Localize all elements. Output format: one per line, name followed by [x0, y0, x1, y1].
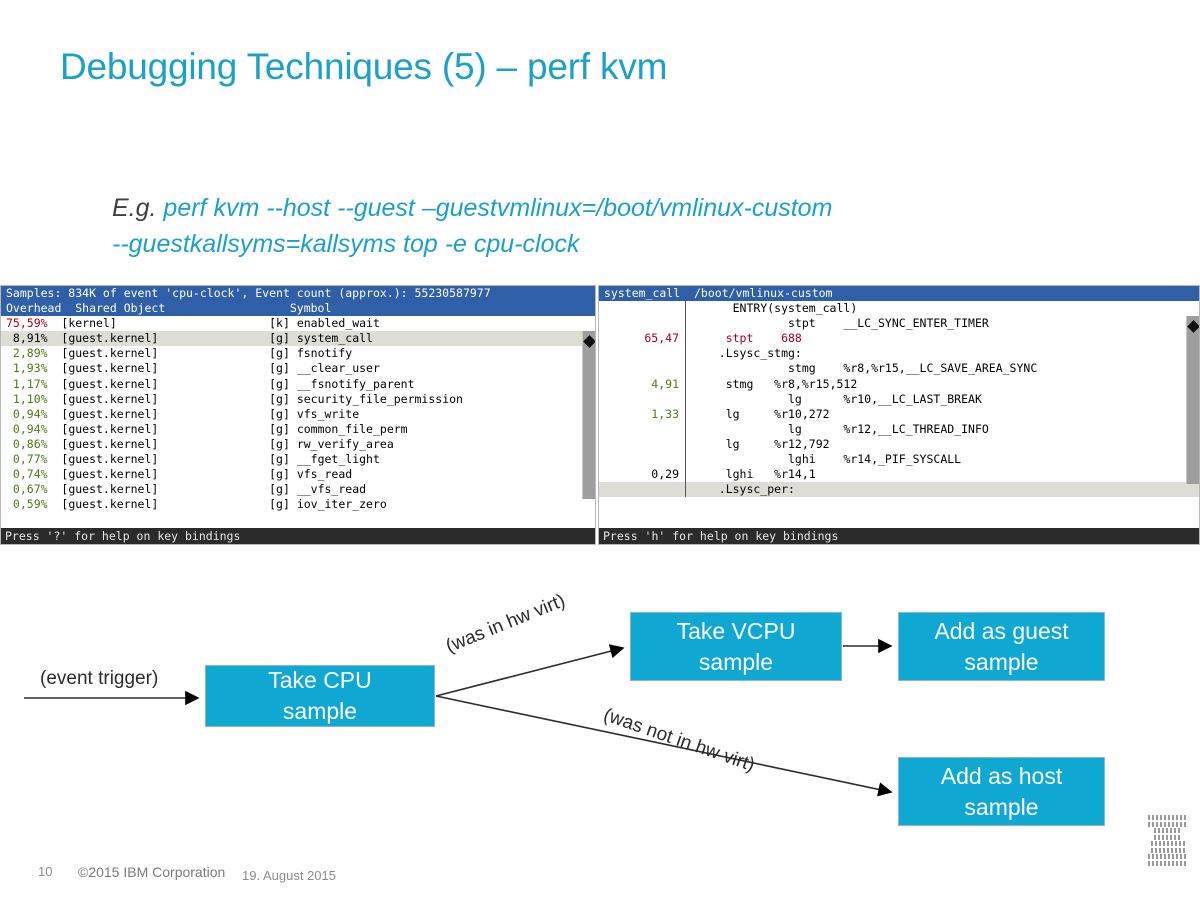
perf-row-shared-object: [kernel]	[48, 316, 159, 330]
annotate-row[interactable]: lghi %r14,_PIF_SYSCALL	[599, 452, 1199, 467]
perf-row[interactable]: 75,59% [kernel] [k] enabled_wait	[1, 316, 595, 331]
annotate-symbol-header: system_call /boot/vmlinux-custom	[599, 286, 1199, 301]
perf-row[interactable]: 0,59% [guest.kernel] [g] iov_iter_zero	[1, 497, 595, 512]
perf-row-shared-object: [guest.kernel]	[48, 392, 159, 406]
annotate-row[interactable]: 4,91 stmg %r8,%r15,512	[599, 377, 1199, 392]
annotate-row[interactable]: .Lsysc_per:	[599, 482, 1199, 497]
scrollbar-thumb-icon[interactable]	[583, 335, 595, 348]
perf-rows-container: 75,59% [kernel] [k] enabled_wait 8,91% […	[1, 316, 595, 515]
annotate-row[interactable]: .Lsysc_stmg:	[599, 346, 1199, 361]
perf-row-tag: [g]	[158, 452, 296, 466]
perf-row[interactable]: 0,74% [guest.kernel] [g] vfs_read	[1, 467, 595, 482]
perf-row-tag: [g]	[158, 331, 296, 345]
perf-samples-header: Samples: 834K of event 'cpu-clock', Even…	[1, 286, 595, 301]
flow-box-take-vcpu-sample[interactable]: Take VCPU sample	[630, 612, 842, 681]
perf-row[interactable]: 0,67% [guest.kernel] [g] __vfs_read	[1, 482, 595, 497]
perf-row-shared-object: [guest.kernel]	[48, 377, 159, 391]
annotate-row-code: .Lsysc_stmg:	[694, 346, 1199, 361]
arrow-to-vcpu	[436, 648, 623, 696]
perf-row-overhead: 1,17%	[6, 377, 48, 391]
annotate-gutter-divider	[685, 422, 694, 437]
flow-box-add-guest-label: Add as guest sample	[934, 616, 1068, 678]
perf-row[interactable]: 0,77% [guest.kernel] [g] __fget_light	[1, 452, 595, 467]
perf-row-symbol: __clear_user	[297, 361, 380, 375]
annotate-row-percent	[599, 452, 685, 467]
perf-row-symbol: system_call	[297, 331, 373, 345]
annotate-gutter-divider	[685, 392, 694, 407]
flow-box-add-as-guest-sample[interactable]: Add as guest sample	[898, 612, 1105, 681]
annotate-help-footer: Press 'h' for help on key bindings	[599, 528, 1199, 544]
flow-box-take-cpu-sample[interactable]: Take CPU sample	[205, 665, 435, 727]
line1: Take CPU	[268, 667, 372, 693]
perf-row-shared-object: [guest.kernel]	[48, 407, 159, 421]
ibm-logo-bar	[1151, 848, 1185, 853]
annotate-row-percent	[599, 482, 685, 497]
annotate-gutter-divider	[685, 361, 694, 376]
perf-row[interactable]: 1,93% [guest.kernel] [g] __clear_user	[1, 361, 595, 376]
perf-row-overhead: 75,59%	[6, 316, 48, 330]
perf-help-footer: Press '?' for help on key bindings	[1, 528, 595, 544]
annotate-row[interactable]: 1,33 lg %r10,272	[599, 407, 1199, 422]
perf-row-overhead: 0,67%	[6, 482, 48, 496]
perf-row-symbol: enabled_wait	[297, 316, 380, 330]
annotate-row-code: lg %r10,272	[694, 407, 1199, 422]
line1: Add as host	[941, 763, 1062, 789]
perf-row[interactable]: 1,10% [guest.kernel] [g] security_file_p…	[1, 392, 595, 407]
perf-row-symbol: __fsnotify_parent	[297, 377, 415, 391]
perf-row-shared-object: [guest.kernel]	[48, 361, 159, 375]
flow-box-add-as-host-sample[interactable]: Add as host sample	[898, 757, 1105, 826]
label-event-trigger: (event trigger)	[40, 668, 158, 690]
annotate-gutter-divider	[685, 437, 694, 452]
annotate-row-percent	[599, 301, 685, 316]
perf-row-symbol: vfs_read	[297, 467, 352, 481]
perf-row-shared-object: [guest.kernel]	[48, 346, 159, 360]
terminal-screenshots: Samples: 834K of event 'cpu-clock', Even…	[0, 285, 1200, 545]
perf-row-tag: [g]	[158, 407, 296, 421]
example-label: E.g.	[112, 194, 163, 222]
line2: sample	[283, 698, 357, 724]
annotate-row-code: stpt __LC_SYNC_ENTER_TIMER	[694, 316, 1199, 331]
perf-row[interactable]: 1,17% [guest.kernel] [g] __fsnotify_pare…	[1, 377, 595, 392]
copyright-text: ©2015 IBM Corporation	[78, 864, 225, 880]
perf-row[interactable]: 0,86% [guest.kernel] [g] rw_verify_area	[1, 437, 595, 452]
annotate-row-percent: 65,47	[599, 331, 685, 346]
annotate-row-percent: 1,33	[599, 407, 685, 422]
perf-row-tag: [g]	[158, 361, 296, 375]
perf-row-overhead: 1,93%	[6, 361, 48, 375]
flow-box-add-host-label: Add as host sample	[941, 761, 1062, 823]
annotate-row-code: lghi %r14,1	[694, 467, 1199, 482]
annotate-row-percent	[599, 346, 685, 361]
annotate-row-percent	[599, 392, 685, 407]
perf-row-tag: [g]	[158, 437, 296, 451]
perf-row-tag: [g]	[158, 422, 296, 436]
scrollbar-thumb-icon-right[interactable]	[1187, 320, 1199, 333]
annotate-row-percent	[599, 316, 685, 331]
annotate-gutter-divider	[685, 482, 694, 497]
slide-date: 19. August 2015	[242, 868, 336, 883]
annotate-row-percent: 0,29	[599, 467, 685, 482]
perf-row-shared-object: [guest.kernel]	[48, 467, 159, 481]
ibm-logo-bar	[1154, 835, 1182, 840]
perf-row-shared-object: [guest.kernel]	[48, 437, 159, 451]
perf-row-tag: [g]	[158, 346, 296, 360]
perf-row-symbol: __vfs_read	[297, 482, 366, 496]
annotate-row-percent	[599, 361, 685, 376]
ibm-logo-bar	[1148, 822, 1188, 827]
annotate-row[interactable]: ENTRY(system_call)	[599, 301, 1199, 316]
perf-row[interactable]: 2,89% [guest.kernel] [g] fsnotify	[1, 346, 595, 361]
vertical-scrollbar-left[interactable]	[582, 331, 595, 499]
annotate-row[interactable]: stmg %r8,%r15,__LC_SAVE_AREA_SYNC	[599, 361, 1199, 376]
example-command-line-1: perf kvm --host --guest –guestvmlinux=/b…	[163, 194, 832, 222]
ibm-logo-bar	[1148, 861, 1188, 866]
perf-row-overhead: 0,94%	[6, 422, 48, 436]
slide-footer: 10 ©2015 IBM Corporation 19. August 2015	[0, 862, 1200, 900]
annotate-gutter-divider	[685, 407, 694, 422]
annotate-row[interactable]: 65,47 stpt 688	[599, 331, 1199, 346]
perf-row-symbol: vfs_write	[297, 407, 359, 421]
perf-row-tag: [g]	[158, 467, 296, 481]
annotate-row[interactable]: lg %r10,__LC_LAST_BREAK	[599, 392, 1199, 407]
example-command-block: E.g. perf kvm --host --guest –guestvmlin…	[112, 190, 1112, 262]
page-title: Debugging Techniques (5) – perf kvm	[60, 46, 667, 88]
page-number: 10	[38, 864, 52, 879]
perf-row-symbol: fsnotify	[297, 346, 352, 360]
annotate-row-code: ENTRY(system_call)	[694, 301, 1199, 316]
perf-row-overhead: 2,89%	[6, 346, 48, 360]
line2: sample	[699, 649, 773, 675]
ibm-logo-bar	[1154, 828, 1182, 833]
perf-row-tag: [g]	[158, 497, 296, 511]
annotate-row-code: lg %r12,792	[694, 437, 1199, 452]
line1: Add as guest	[934, 618, 1068, 644]
annotate-gutter-divider	[685, 452, 694, 467]
perf-row-tag: [g]	[158, 482, 296, 496]
annotate-gutter-divider	[685, 377, 694, 392]
annotate-gutter-divider	[685, 316, 694, 331]
annotate-row-percent	[599, 437, 685, 452]
annotate-row-percent	[599, 422, 685, 437]
perf-row-symbol: __fget_light	[297, 452, 380, 466]
example-command-line-2: --guestkallsyms=kallsyms top -e cpu-cloc…	[112, 230, 580, 258]
annotate-row-percent: 4,91	[599, 377, 685, 392]
perf-row-symbol: common_file_perm	[297, 422, 408, 436]
annotate-row[interactable]: lg %r12,792	[599, 437, 1199, 452]
annotate-gutter-divider	[685, 467, 694, 482]
annotate-rows-container: ENTRY(system_call) stpt __LC_SYNC_ENTER_…	[599, 301, 1199, 500]
flow-box-take-cpu-label: Take CPU sample	[268, 665, 372, 727]
annotate-row[interactable]: lg %r12,__LC_THREAD_INFO	[599, 422, 1199, 437]
perf-row-overhead: 0,77%	[6, 452, 48, 466]
annotate-gutter-divider	[685, 346, 694, 361]
perf-top-overview-terminal[interactable]: Samples: 834K of event 'cpu-clock', Even…	[0, 285, 596, 545]
annotate-row[interactable]: stpt __LC_SYNC_ENTER_TIMER	[599, 316, 1199, 331]
annotate-row-code: stpt 688	[694, 331, 1199, 346]
perf-row-overhead: 0,86%	[6, 437, 48, 451]
perf-row-overhead: 0,59%	[6, 497, 48, 511]
perf-row-overhead: 0,94%	[6, 407, 48, 421]
perf-row-symbol: rw_verify_area	[297, 437, 394, 451]
perf-row[interactable]: 0,94% [guest.kernel] [g] common_file_per…	[1, 422, 595, 437]
perf-row-overhead: 0,74%	[6, 467, 48, 481]
line2: sample	[964, 794, 1038, 820]
vertical-scrollbar-right[interactable]	[1186, 316, 1199, 484]
line1: Take VCPU	[677, 618, 796, 644]
perf-row[interactable]: 0,94% [guest.kernel] [g] vfs_write	[1, 407, 595, 422]
perf-row-shared-object: [guest.kernel]	[48, 422, 159, 436]
annotate-row-code: stmg %r8,%r15,__LC_SAVE_AREA_SYNC	[694, 361, 1199, 376]
perf-row[interactable]: 8,91% [guest.kernel] [g] system_call	[1, 331, 595, 346]
annotate-gutter-divider	[685, 301, 694, 316]
perf-row-shared-object: [guest.kernel]	[48, 497, 159, 511]
perf-row-shared-object: [guest.kernel]	[48, 331, 159, 345]
perf-column-header: Overhead Shared Object Symbol	[1, 301, 595, 316]
perf-row-overhead: 1,10%	[6, 392, 48, 406]
flow-box-take-vcpu-label: Take VCPU sample	[677, 616, 796, 678]
annotate-row[interactable]: 0,29 lghi %r14,1	[599, 467, 1199, 482]
perf-row-shared-object: [guest.kernel]	[48, 482, 159, 496]
perf-row-tag: [g]	[158, 392, 296, 406]
sampling-flow-diagram: (event trigger) (was in hw virt) (was no…	[0, 580, 1200, 860]
ibm-logo-bar	[1148, 854, 1188, 859]
ibm-logo-icon	[1148, 815, 1188, 867]
perf-row-shared-object: [guest.kernel]	[48, 452, 159, 466]
perf-row-tag: [g]	[158, 377, 296, 391]
perf-row-overhead: 8,91%	[6, 331, 48, 345]
ibm-logo-bar	[1148, 815, 1188, 820]
line2: sample	[964, 649, 1038, 675]
perf-row-symbol: iov_iter_zero	[297, 497, 387, 511]
annotate-row-code: .Lsysc_per:	[694, 482, 1199, 497]
ibm-logo-bar	[1151, 841, 1185, 846]
annotate-row-code: lg %r10,__LC_LAST_BREAK	[694, 392, 1199, 407]
perf-row-symbol: security_file_permission	[297, 392, 463, 406]
perf-row-tag: [k]	[158, 316, 296, 330]
annotate-gutter-divider	[685, 331, 694, 346]
annotate-row-code: stmg %r8,%r15,512	[694, 377, 1199, 392]
annotate-row-code: lg %r12,__LC_THREAD_INFO	[694, 422, 1199, 437]
annotate-row-code: lghi %r14,_PIF_SYSCALL	[694, 452, 1199, 467]
perf-annotate-terminal[interactable]: system_call /boot/vmlinux-custom ENTRY(s…	[598, 285, 1200, 545]
